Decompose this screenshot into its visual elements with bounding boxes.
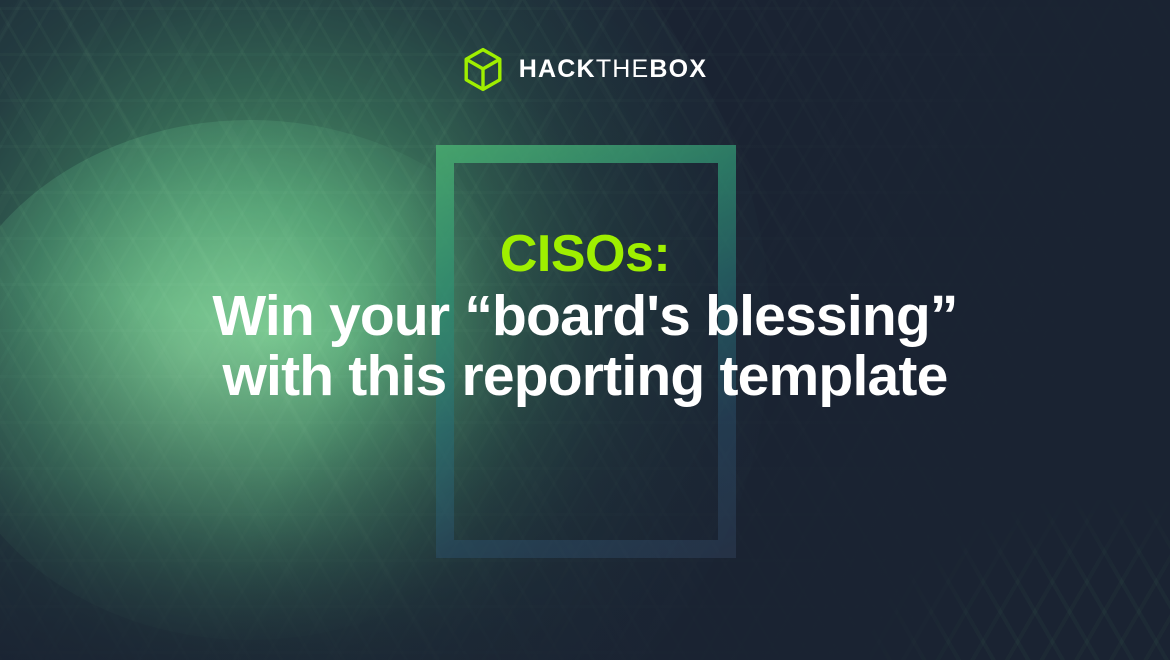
logo-word-box: BOX (649, 55, 707, 83)
logo-word-hack: HACK (519, 55, 596, 83)
corner-circuit-accent (870, 500, 1170, 660)
cube-icon (463, 47, 503, 92)
logo-wordmark: HACKTHEBOX (519, 57, 707, 82)
headline-line-1: Win your “board's blessing” (0, 286, 1170, 346)
hack-the-box-logo: HACKTHEBOX (0, 47, 1170, 92)
headline-line-2: with this reporting template (0, 346, 1170, 406)
headline-eyebrow: CISOs: (0, 228, 1170, 282)
logo-word-the: THE (596, 55, 650, 83)
headline-block: CISOs: Win your “board's blessing” with … (0, 228, 1170, 406)
promo-banner: HACKTHEBOX CISOs: Win your “board's bles… (0, 0, 1170, 660)
